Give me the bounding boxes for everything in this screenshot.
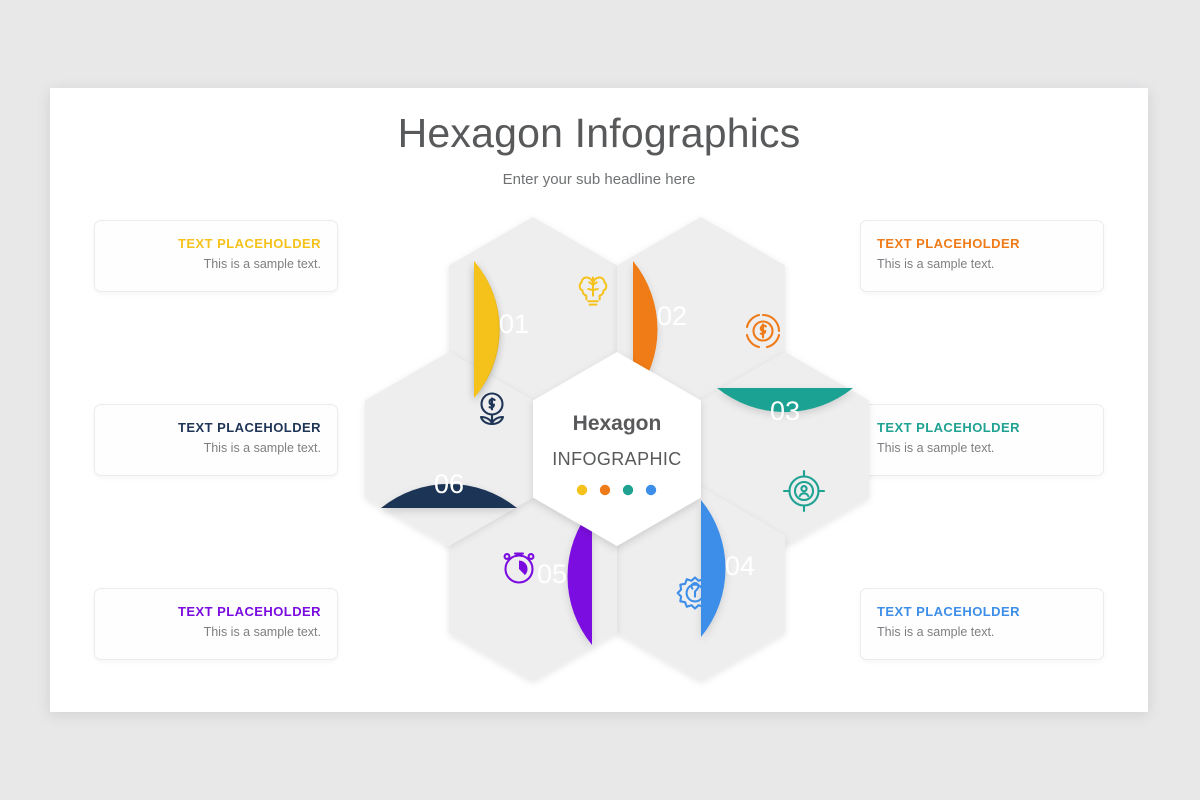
text-card-05[interactable]: TEXT PLACEHOLDER This is a sample text. [94,588,338,660]
dot-orange [600,485,610,495]
dot-teal [623,485,633,495]
card-body: This is a sample text. [111,440,321,457]
center-title: Hexagon [573,412,662,435]
segment-01-number: 01 [499,309,529,339]
card-heading: TEXT PLACEHOLDER [111,603,321,620]
card-heading: TEXT PLACEHOLDER [877,235,1087,252]
card-body: This is a sample text. [111,624,321,641]
card-body: This is a sample text. [111,256,321,273]
dot-yellow [577,485,587,495]
segment-02-number: 02 [657,301,687,331]
card-heading: TEXT PLACEHOLDER [877,419,1087,436]
text-card-06[interactable]: TEXT PLACEHOLDER This is a sample text. [94,404,338,476]
hexagon-diagram: 01 02 03 04 05 06 Hexagon INFOG [352,208,882,690]
segment-03-number: 03 [770,396,800,426]
text-card-01[interactable]: TEXT PLACEHOLDER This is a sample text. [94,220,338,292]
page-subtitle: Enter your sub headline here [50,171,1148,188]
segment-06-number: 06 [434,469,464,499]
card-body: This is a sample text. [877,440,1087,457]
card-heading: TEXT PLACEHOLDER [111,419,321,436]
card-heading: TEXT PLACEHOLDER [111,235,321,252]
card-heading: TEXT PLACEHOLDER [877,603,1087,620]
text-card-03[interactable]: TEXT PLACEHOLDER This is a sample text. [860,404,1104,476]
text-card-04[interactable]: TEXT PLACEHOLDER This is a sample text. [860,588,1104,660]
slide-canvas: Hexagon Infographics Enter your sub head… [50,88,1148,712]
text-card-02[interactable]: TEXT PLACEHOLDER This is a sample text. [860,220,1104,292]
card-body: This is a sample text. [877,256,1087,273]
card-body: This is a sample text. [877,624,1087,641]
dot-blue [646,485,656,495]
center-subtitle: INFOGRAPHIC [552,449,681,469]
page-title: Hexagon Infographics [50,110,1148,157]
segment-05-number: 05 [537,559,567,589]
segment-04-number: 04 [725,551,755,581]
